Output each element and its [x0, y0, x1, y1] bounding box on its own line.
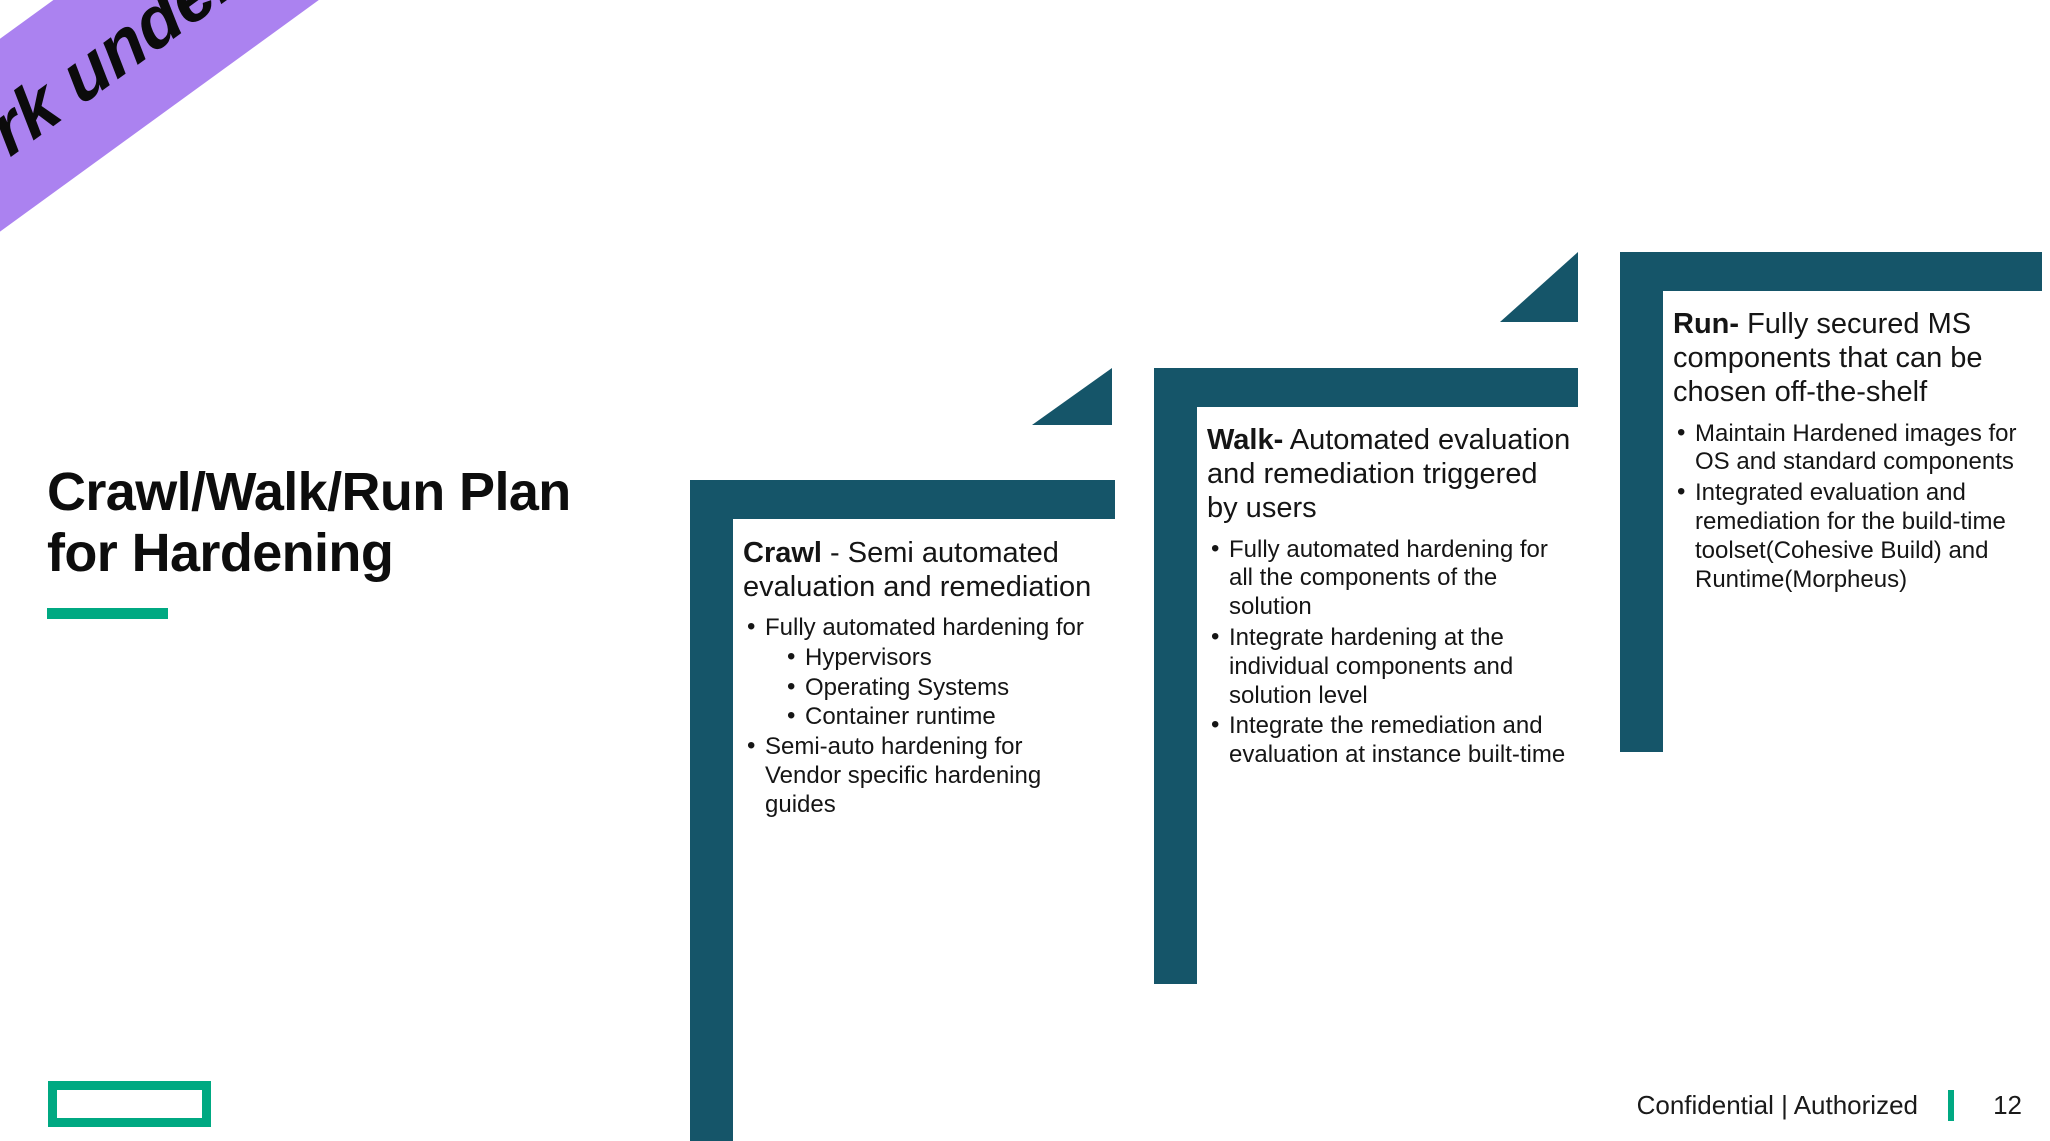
stage-heading-run: Run- Fully secured MS components that ca… [1673, 307, 2028, 410]
list-item: Operating Systems [783, 673, 1103, 702]
stage-body-walk: Walk- Automated evaluation and remediati… [1207, 423, 1575, 772]
footer-page-number: 12 [1980, 1090, 2022, 1121]
hpe-logo [48, 1081, 211, 1127]
stage-topbar-run [1620, 252, 2042, 291]
list-item: Semi-auto hardening for Vendor specific … [743, 733, 1103, 819]
footer-meta: Confidential | Authorized 12 [1637, 1090, 2022, 1121]
stage-sidebar-crawl [690, 519, 733, 1141]
stage-topbar-crawl [690, 480, 1115, 519]
title-block: Crawl/Walk/Run Plan for Hardening [47, 462, 647, 619]
stage-bullet-list-run: Maintain Hardened images for OS and stan… [1673, 420, 2028, 595]
stage-heading-crawl-bold: Crawl [743, 537, 822, 569]
step-connector-triangle-walk-run [1500, 252, 1578, 322]
stage-sidebar-walk [1154, 407, 1197, 984]
stage-bullet-list-walk: Fully automated hardening for all the co… [1207, 536, 1575, 770]
stage-body-crawl: Crawl - Semi automated evaluation and re… [743, 536, 1103, 821]
list-item: Hypervisors [783, 643, 1103, 672]
list-item: Fully automated hardening for Hypervisor… [743, 614, 1103, 731]
list-item: Fully automated hardening for all the co… [1207, 536, 1575, 622]
list-item: Integrated evaluation and remediation fo… [1673, 479, 2028, 594]
page-title: Crawl/Walk/Run Plan for Hardening [47, 462, 647, 584]
stage-heading-crawl: Crawl - Semi automated evaluation and re… [743, 536, 1103, 604]
stage-sidebar-run [1620, 291, 1663, 752]
footer-divider [1948, 1090, 1954, 1121]
stage-body-run: Run- Fully secured MS components that ca… [1673, 307, 2028, 596]
list-item: Maintain Hardened images for OS and stan… [1673, 420, 2028, 478]
work-under-progress-banner: Work under Progress [0, 0, 504, 236]
step-connector-triangle-crawl-walk [1032, 368, 1112, 425]
bullet-text: Fully automated hardening for [765, 614, 1084, 641]
list-item: Container runtime [783, 702, 1103, 731]
title-accent-bar [47, 608, 168, 619]
footer-confidentiality-label: Confidential | Authorized [1637, 1090, 1918, 1121]
work-under-progress-label: Work under Progress [0, 0, 520, 238]
slide-canvas: Work under Progress Crawl/Walk/Run Plan … [0, 0, 2050, 1141]
stage-heading-walk-bold: Walk- [1207, 424, 1283, 456]
list-item: Integrate the remediation and evaluation… [1207, 712, 1575, 770]
stage-bullet-list-crawl: Fully automated hardening for Hypervisor… [743, 614, 1103, 819]
stage-sub-bullet-list-crawl: Hypervisors Operating Systems Container … [765, 643, 1103, 731]
list-item: Integrate hardening at the individual co… [1207, 624, 1575, 710]
stage-heading-run-bold: Run- [1673, 308, 1739, 340]
stage-heading-walk: Walk- Automated evaluation and remediati… [1207, 423, 1575, 526]
stage-topbar-walk [1154, 368, 1578, 407]
